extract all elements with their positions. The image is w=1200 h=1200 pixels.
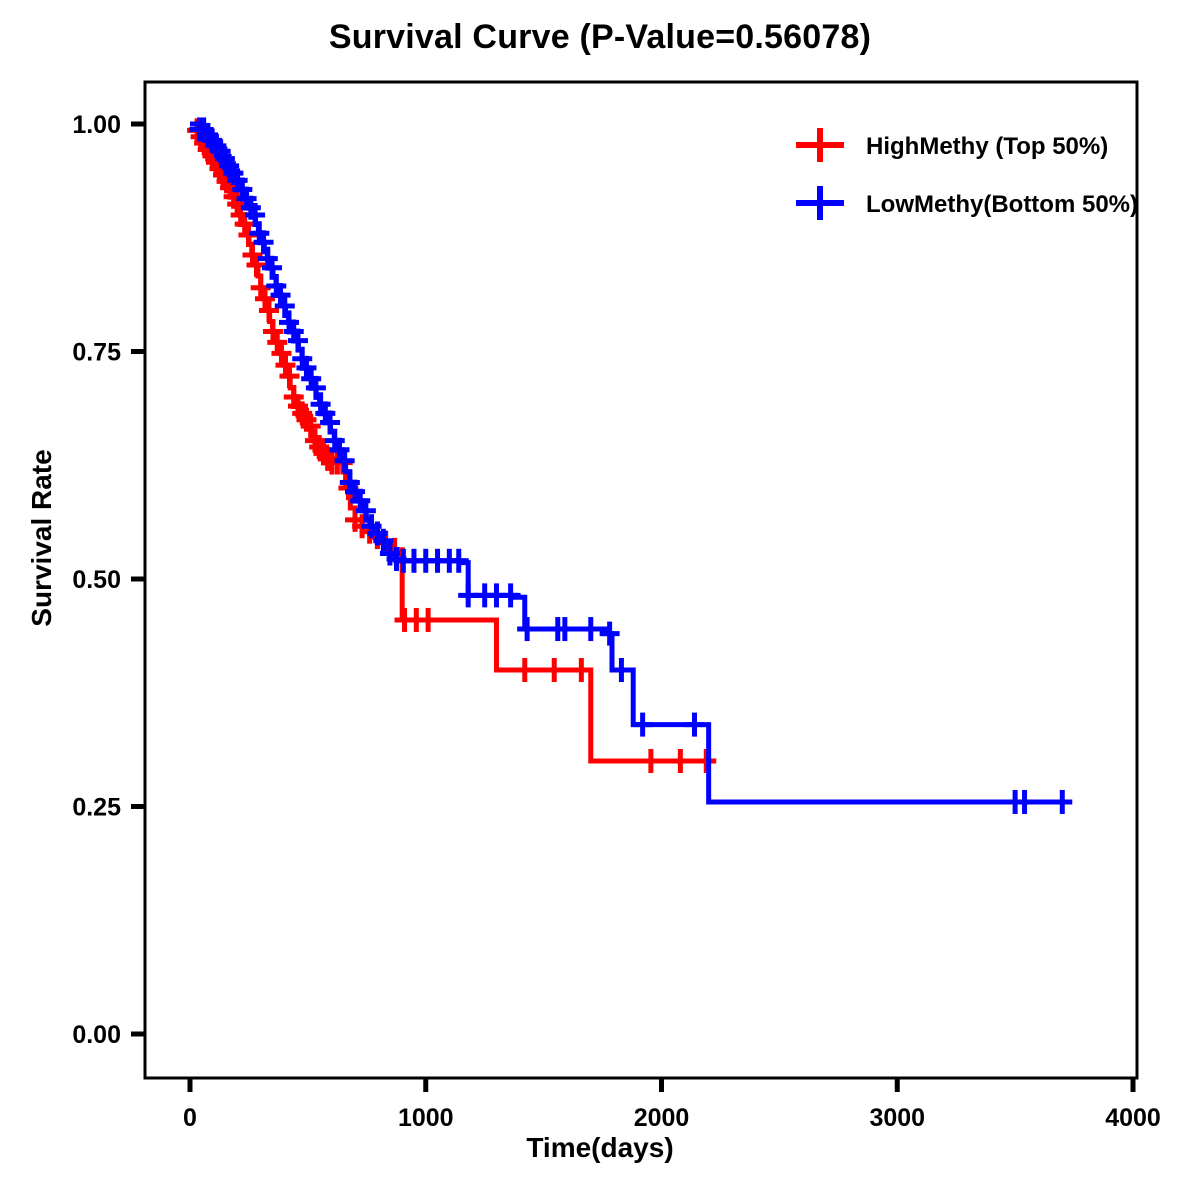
survival-curve-figure: Survival Curve (P-Value=0.56078) Surviva… — [0, 0, 1200, 1200]
y-tick-label: 0.75 — [72, 339, 121, 367]
x-tick-label: 4000 — [1105, 1104, 1161, 1132]
x-tick-label: 2000 — [634, 1104, 690, 1132]
series-highmethy — [187, 118, 716, 773]
x-tick-label: 1000 — [398, 1104, 454, 1132]
legend-label: LowMethy(Bottom 50%) — [866, 191, 1138, 218]
legend-label: HighMethy (Top 50%) — [866, 133, 1108, 160]
plot-area: 01000200030004000 0.000.250.500.751.00 H… — [0, 0, 1200, 1200]
chart-legend: HighMethy (Top 50%)LowMethy(Bottom 50%) — [796, 128, 1138, 220]
y-tick-label: 0.25 — [72, 794, 121, 822]
x-tick-label: 3000 — [869, 1104, 925, 1132]
legend-item-highmethy: HighMethy (Top 50%) — [796, 128, 1108, 162]
y-tick-label: 0.00 — [72, 1021, 121, 1049]
survival-step-line — [190, 124, 709, 761]
censor-marks — [187, 118, 716, 773]
y-axis-ticks: 0.000.250.500.751.00 — [72, 111, 145, 1049]
legend-item-lowmethy: LowMethy(Bottom 50%) — [796, 186, 1138, 220]
series-layer — [187, 117, 1072, 813]
x-axis-ticks: 01000200030004000 — [183, 1078, 1161, 1132]
x-tick-label: 0 — [183, 1104, 197, 1132]
series-lowmethy — [189, 117, 1072, 813]
y-tick-label: 1.00 — [72, 111, 121, 139]
axis-frame — [145, 82, 1137, 1078]
y-tick-label: 0.50 — [72, 566, 121, 594]
